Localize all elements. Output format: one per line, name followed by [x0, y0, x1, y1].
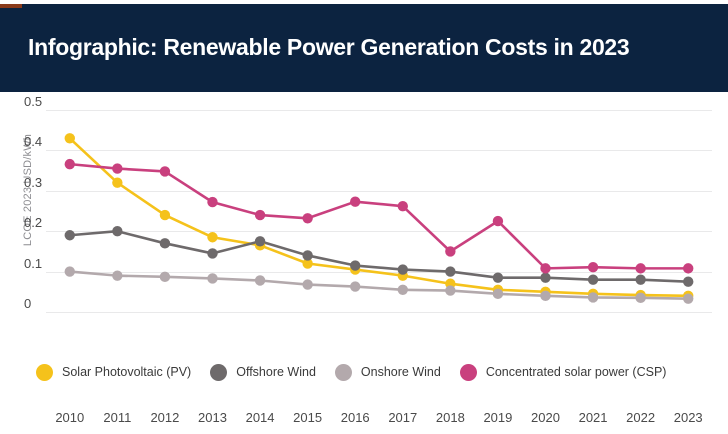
data-point-marker[interactable]	[588, 292, 598, 302]
x-axis-tick-label: 2022	[618, 410, 664, 425]
data-point-marker[interactable]	[683, 277, 693, 287]
x-axis-tick-label: 2017	[380, 410, 426, 425]
x-axis-tick-label: 2012	[142, 410, 188, 425]
data-point-marker[interactable]	[302, 213, 312, 223]
data-point-marker[interactable]	[540, 272, 550, 282]
data-point-marker[interactable]	[635, 274, 645, 284]
data-point-marker[interactable]	[588, 262, 598, 272]
legend-item-label: Solar Photovoltaic (PV)	[62, 365, 191, 379]
x-axis-tick-label: 2016	[332, 410, 378, 425]
data-point-marker[interactable]	[160, 210, 170, 220]
data-point-marker[interactable]	[493, 272, 503, 282]
x-axis-tick-label: 2011	[94, 410, 140, 425]
data-point-marker[interactable]	[445, 285, 455, 295]
chart-container: LCOE 2023 USD/kWh 0.50.40.30.20.10 20102…	[0, 92, 728, 350]
data-point-marker[interactable]	[112, 178, 122, 188]
data-point-marker[interactable]	[635, 263, 645, 273]
data-point-marker[interactable]	[65, 159, 75, 169]
data-point-marker[interactable]	[540, 291, 550, 301]
header-accent-bar	[0, 4, 22, 8]
data-point-marker[interactable]	[540, 263, 550, 273]
legend-item[interactable]: Concentrated solar power (CSP)	[460, 364, 667, 381]
x-axis-tick-label: 2023	[665, 410, 711, 425]
data-point-marker[interactable]	[65, 266, 75, 276]
data-point-marker[interactable]	[350, 281, 360, 291]
legend-item[interactable]: Solar Photovoltaic (PV)	[36, 364, 191, 381]
circle-marker-icon	[335, 364, 352, 381]
data-point-marker[interactable]	[160, 272, 170, 282]
legend-item-label: Concentrated solar power (CSP)	[486, 365, 667, 379]
data-point-marker[interactable]	[112, 270, 122, 280]
legend-item[interactable]: Onshore Wind	[335, 364, 441, 381]
chart-legend: Solar Photovoltaic (PV)Offshore WindOnsh…	[36, 360, 685, 384]
data-point-marker[interactable]	[207, 197, 217, 207]
x-axis-tick-label: 2015	[285, 410, 331, 425]
data-point-marker[interactable]	[112, 226, 122, 236]
data-point-marker[interactable]	[398, 201, 408, 211]
data-point-marker[interactable]	[350, 197, 360, 207]
data-point-marker[interactable]	[255, 210, 265, 220]
data-point-marker[interactable]	[493, 289, 503, 299]
circle-marker-icon	[460, 364, 477, 381]
data-point-marker[interactable]	[683, 293, 693, 303]
legend-item-label: Offshore Wind	[236, 365, 316, 379]
x-axis-tick-label: 2013	[190, 410, 236, 425]
page-title: Infographic: Renewable Power Generation …	[28, 34, 629, 61]
data-point-marker[interactable]	[65, 133, 75, 143]
x-axis-tick-label: 2010	[47, 410, 93, 425]
data-point-marker[interactable]	[112, 163, 122, 173]
data-point-marker[interactable]	[207, 248, 217, 258]
data-point-marker[interactable]	[255, 275, 265, 285]
x-axis-tick-label: 2021	[570, 410, 616, 425]
data-point-marker[interactable]	[207, 273, 217, 283]
data-point-marker[interactable]	[398, 285, 408, 295]
chart-series-svg	[46, 92, 712, 350]
legend-item-label: Onshore Wind	[361, 365, 441, 379]
x-axis-tick-label: 2018	[427, 410, 473, 425]
data-point-marker[interactable]	[160, 238, 170, 248]
data-point-marker[interactable]	[635, 293, 645, 303]
data-point-marker[interactable]	[588, 274, 598, 284]
data-point-marker[interactable]	[350, 260, 360, 270]
data-point-marker[interactable]	[493, 216, 503, 226]
data-point-marker[interactable]	[207, 232, 217, 242]
x-axis-tick-label: 2020	[523, 410, 569, 425]
data-point-marker[interactable]	[255, 236, 265, 246]
circle-marker-icon	[210, 364, 227, 381]
data-point-marker[interactable]	[65, 230, 75, 240]
x-axis-tick-label: 2014	[237, 410, 283, 425]
circle-marker-icon	[36, 364, 53, 381]
infographic-page: Infographic: Renewable Power Generation …	[0, 0, 728, 434]
data-point-marker[interactable]	[398, 264, 408, 274]
legend-item[interactable]: Offshore Wind	[210, 364, 316, 381]
data-point-marker[interactable]	[302, 279, 312, 289]
data-point-marker[interactable]	[160, 166, 170, 176]
data-point-marker[interactable]	[683, 263, 693, 273]
data-point-marker[interactable]	[302, 250, 312, 260]
chart-plot-area	[46, 92, 712, 350]
data-point-marker[interactable]	[445, 246, 455, 256]
data-point-marker[interactable]	[445, 266, 455, 276]
header-banner: Infographic: Renewable Power Generation …	[0, 4, 728, 92]
x-axis-tick-label: 2019	[475, 410, 521, 425]
